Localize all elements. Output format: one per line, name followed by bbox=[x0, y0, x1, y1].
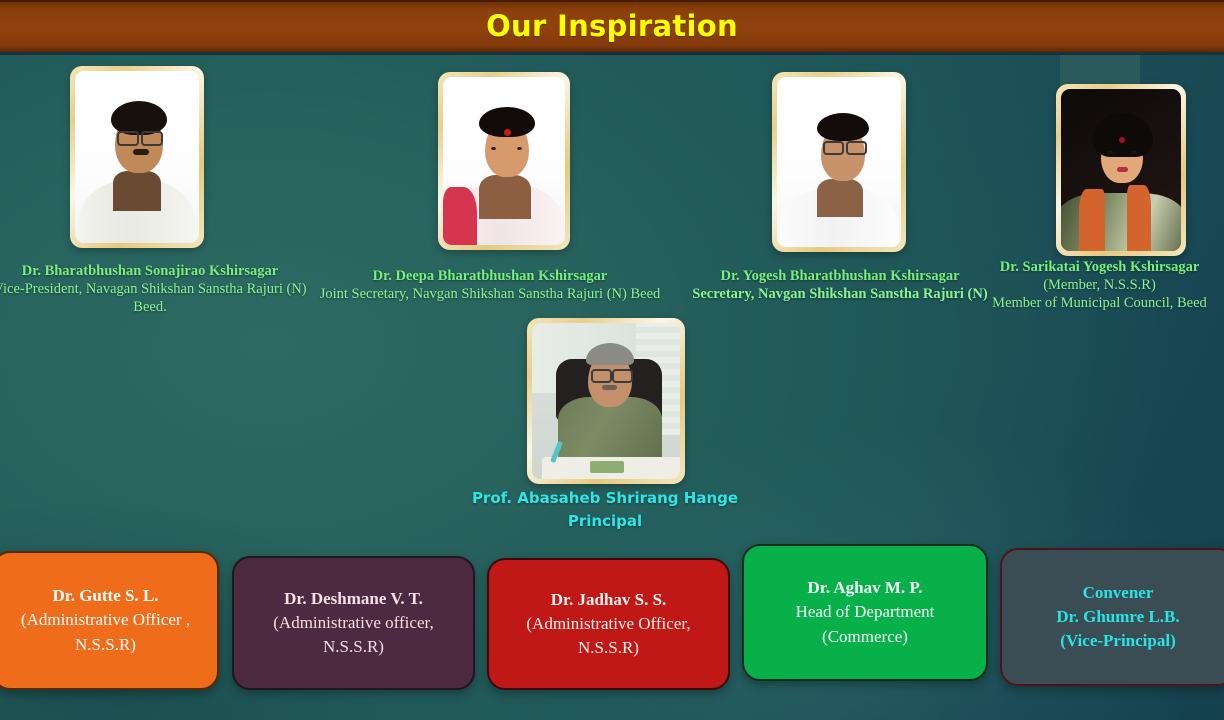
staff-role-title: Convener bbox=[1083, 581, 1154, 605]
leader-name: Dr. Yogesh Bharatbhushan Kshirsagar bbox=[680, 267, 1000, 285]
header-bar: Our Inspiration bbox=[0, 0, 1224, 52]
leader-role-line1: (Member, N.S.S.R) bbox=[975, 276, 1224, 294]
caption-sarikatai: Dr. Sarikatai Yogesh Kshirsagar (Member,… bbox=[975, 258, 1224, 312]
staff-role-line1: (Administrative officer, bbox=[273, 611, 433, 635]
photo-frame-sarikatai bbox=[1056, 84, 1186, 256]
photo-sarikatai-kshirsagar bbox=[1061, 89, 1181, 251]
leader-name: Dr. Bharatbhushan Sonajirao Kshirsagar bbox=[0, 262, 320, 280]
principal-name: Prof. Abasaheb Shrirang Hange bbox=[472, 489, 738, 507]
leader-role-line2: Beed. bbox=[0, 298, 320, 316]
caption-principal: Prof. Abasaheb Shrirang Hange Principal bbox=[455, 487, 755, 532]
photo-frame-yogesh bbox=[772, 72, 906, 252]
leader-role-line2: Member of Municipal Council, Beed bbox=[975, 294, 1224, 312]
staff-name: Dr. Gutte S. L. bbox=[52, 584, 158, 608]
caption-deepa: Dr. Deepa Bharatbhushan Kshirsagar Joint… bbox=[300, 267, 680, 303]
staff-box-deshmane[interactable]: Dr. Deshmane V. T. (Administrative offic… bbox=[232, 556, 475, 690]
staff-role-line2: (Vice-Principal) bbox=[1060, 629, 1176, 653]
staff-role-line1: (Administrative Officer , bbox=[21, 608, 190, 632]
principal-title: Principal bbox=[568, 512, 642, 530]
staff-name: Dr. Deshmane V. T. bbox=[284, 587, 423, 611]
photo-abasaheb-hange bbox=[532, 323, 680, 479]
staff-role-line2: (Commerce) bbox=[822, 625, 908, 649]
decorative-teal-block bbox=[1060, 50, 1140, 88]
leader-name: Dr. Sarikatai Yogesh Kshirsagar bbox=[975, 258, 1224, 276]
staff-role-line2: N.S.S.R) bbox=[323, 635, 384, 659]
staff-role-line2: N.S.S.R) bbox=[578, 636, 639, 660]
photo-bharatbhushan-kshirsagar bbox=[75, 71, 199, 243]
staff-box-gutte[interactable]: Dr. Gutte S. L. (Administrative Officer … bbox=[0, 551, 219, 690]
leader-role-line1: Secretary, Navgan Shikshan Sanstha Rajur… bbox=[680, 285, 1000, 303]
staff-role-line2: N.S.S.R) bbox=[75, 633, 136, 657]
photo-frame-deepa bbox=[438, 72, 570, 250]
staff-box-aghav[interactable]: Dr. Aghav M. P. Head of Department (Comm… bbox=[742, 544, 988, 681]
photo-frame-principal bbox=[527, 318, 685, 484]
photo-deepa-kshirsagar bbox=[443, 77, 565, 245]
staff-name: Dr. Ghumre L.B. bbox=[1056, 605, 1179, 629]
photo-frame-bharatbhushan bbox=[70, 66, 204, 248]
staff-box-jadhav[interactable]: Dr. Jadhav S. S. (Administrative Officer… bbox=[487, 558, 730, 690]
caption-yogesh: Dr. Yogesh Bharatbhushan Kshirsagar Secr… bbox=[680, 267, 1000, 303]
staff-role-line1: Head of Department bbox=[796, 600, 935, 624]
slide-canvas: Our Inspiration Dr. Bharatbhushan Sonaji… bbox=[0, 0, 1224, 720]
staff-name: Dr. Jadhav S. S. bbox=[551, 588, 667, 612]
page-title: Our Inspiration bbox=[0, 9, 1224, 43]
caption-bharatbhushan: Dr. Bharatbhushan Sonajirao Kshirsagar V… bbox=[0, 262, 320, 316]
leader-name: Dr. Deepa Bharatbhushan Kshirsagar bbox=[300, 267, 680, 285]
staff-role-line1: (Administrative Officer, bbox=[526, 612, 690, 636]
staff-box-ghumre[interactable]: Convener Dr. Ghumre L.B. (Vice-Principal… bbox=[1000, 548, 1224, 686]
staff-name: Dr. Aghav M. P. bbox=[808, 576, 923, 600]
photo-yogesh-kshirsagar bbox=[777, 77, 901, 247]
leader-role-line1: Joint Secretary, Navgan Shikshan Sanstha… bbox=[300, 285, 680, 303]
leader-role-line1: Vice-President, Navagan Shikshan Sanstha… bbox=[0, 280, 320, 298]
